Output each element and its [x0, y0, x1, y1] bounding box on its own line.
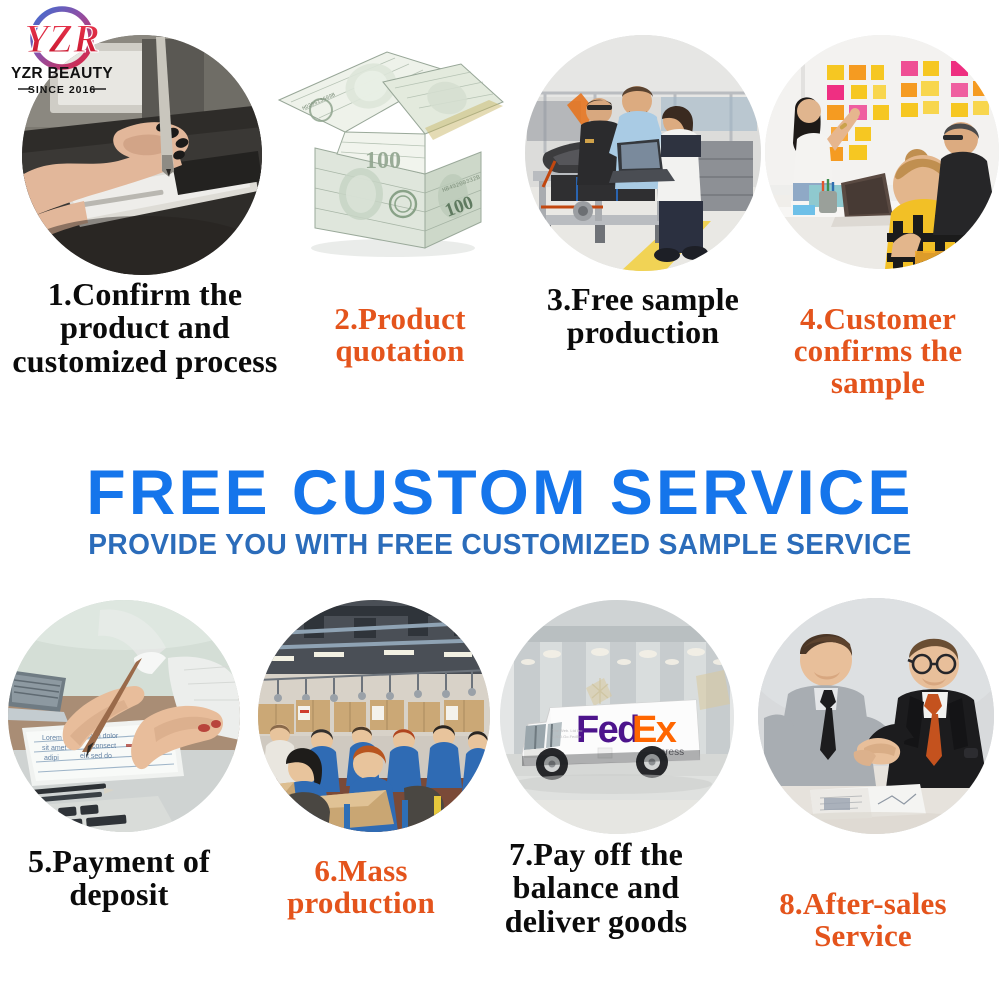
factory-assembly-line-workers-icon	[258, 600, 490, 832]
step-1-caption: 1.Confirm the product and customized pro…	[2, 278, 288, 378]
step-4-caption: 4.Customer confirms the sample	[756, 303, 1000, 400]
step-6-photo	[258, 600, 490, 832]
logo-since-text: SINCE 2016	[28, 84, 96, 96]
svg-text:Lorem: Lorem	[42, 735, 62, 742]
infographic-canvas: YZR YZR BEAUTY SINCE 2016	[0, 0, 1000, 1000]
svg-text:consect: consect	[92, 743, 116, 750]
hands-writing-notes-with-laptops-icon: Loremipsum dolor sit ametconsect adipiel…	[8, 600, 240, 832]
step-7-caption: 7.Pay off the balance and deliver goods	[462, 838, 730, 938]
businessmen-shaking-hands-icon	[758, 598, 994, 834]
svg-text:adipi: adipi	[44, 755, 59, 762]
step-7-photo: Fed Ex Express The Web. Ltd Inc1.800.Go.…	[500, 600, 734, 834]
fedex-delivery-truck-icon: Fed Ex Express The Web. Ltd Inc1.800.Go.…	[500, 600, 734, 834]
svg-text:1.800.Go.FedEx: 1.800.Go.FedEx	[552, 734, 581, 739]
house-made-of-dollar-bills-icon: 100 HB49200332B HD20613609B	[275, 36, 507, 262]
step-4-photo	[765, 35, 999, 269]
step-3-caption: 3.Free sample production	[530, 283, 756, 350]
svg-text:elit sed do: elit sed do	[80, 753, 112, 760]
step-2-photo: 100 HB49200332B HD20613609B	[275, 36, 507, 262]
team-with-sticky-notes-on-wall-icon	[765, 35, 999, 269]
step-5-caption: 5.Payment of deposit	[0, 845, 238, 912]
logo-brand-name: YZR BEAUTY	[11, 65, 113, 82]
brand-logo: YZR YZR BEAUTY SINCE 2016	[6, 4, 118, 96]
step-2-caption: 2.Product quotation	[294, 303, 506, 367]
engineers-inspecting-prototype-icon	[525, 35, 761, 271]
svg-text:sit amet: sit amet	[42, 745, 67, 752]
fedex-ex-text: Ex	[632, 709, 677, 751]
svg-text:100: 100	[365, 148, 401, 174]
step-8-caption: 8.After-sales Service	[730, 888, 996, 952]
step-8-photo	[758, 598, 994, 834]
step-3-photo	[525, 35, 761, 271]
page-subtitle: PROVIDE YOU WITH FREE CUSTOMIZED SAMPLE …	[8, 531, 993, 560]
step-6-caption: 6.Mass production	[252, 855, 470, 919]
page-title: FREE CUSTOM SERVICE	[0, 462, 1000, 525]
logo-monogram: YZR	[24, 16, 100, 61]
step-5-photo: Loremipsum dolor sit ametconsect adipiel…	[8, 600, 240, 832]
svg-text:The Web. Ltd Inc: The Web. Ltd Inc	[552, 728, 582, 733]
fedex-fed-text: Fed	[576, 709, 639, 751]
